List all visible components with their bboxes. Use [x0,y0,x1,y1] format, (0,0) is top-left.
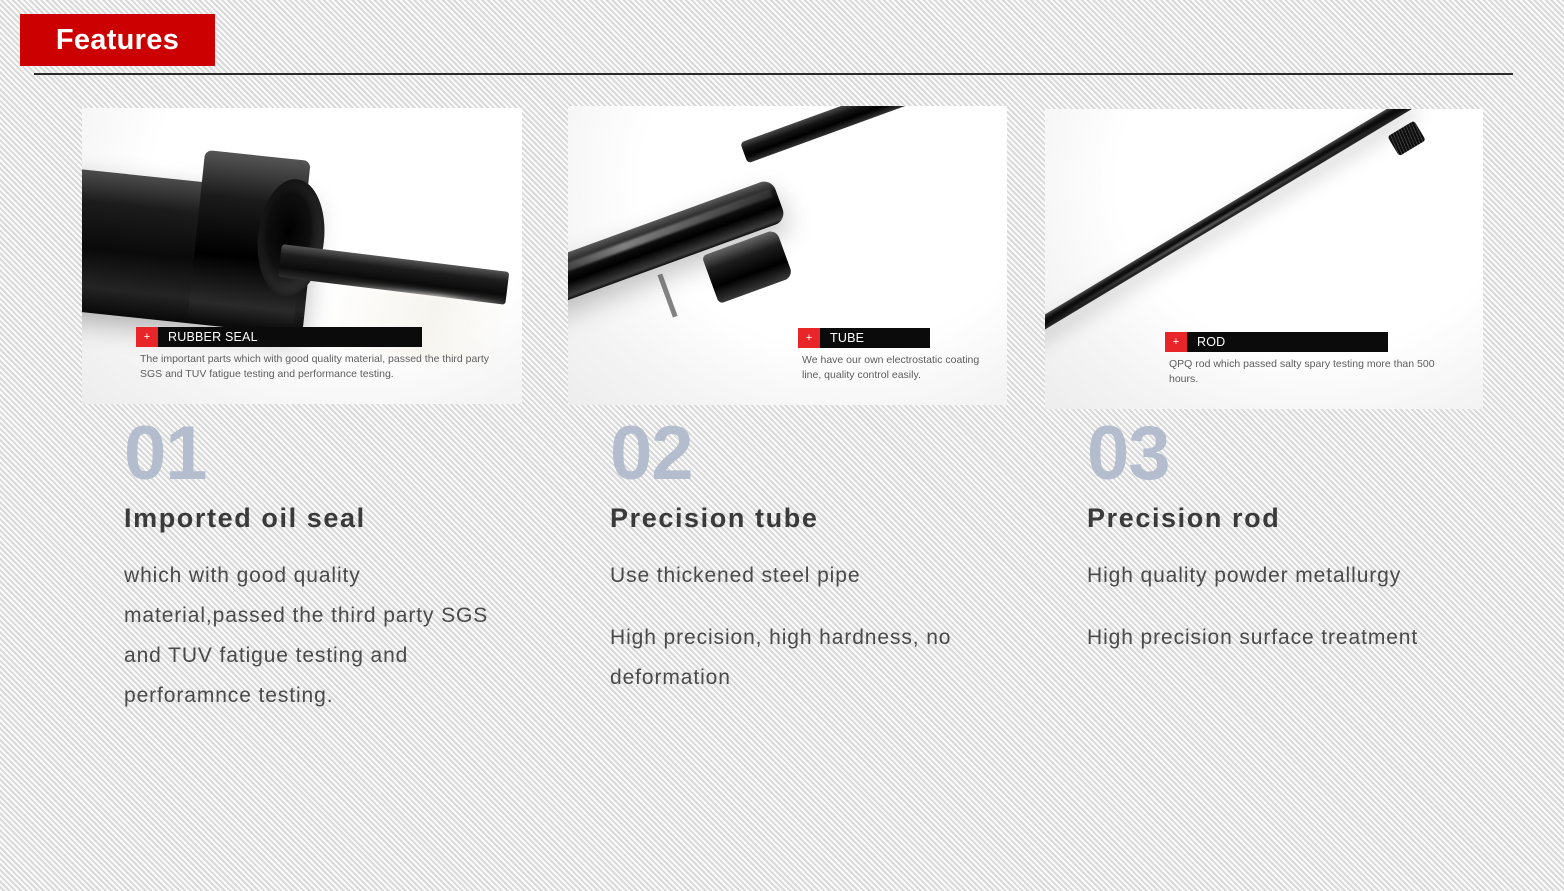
feature-columns: + RUBBER SEAL The important parts which … [0,0,1564,891]
feature-paragraph: which with good quality material,passed … [124,556,524,716]
feature-text-precision-tube: 02 Precision tube Use thickened steel pi… [610,418,1010,698]
caption-description: We have our own electrostatic coating li… [798,348,1007,383]
feature-paragraph: Use thickened steel pipe [610,556,1010,596]
caption-label-bar: + RUBBER SEAL [136,327,422,347]
feature-text-precision-rod: 03 Precision rod High quality powder met… [1087,418,1487,658]
caption-label-text: TUBE [820,328,930,348]
photo-caption-rod: + ROD QPQ rod which passed salty spary t… [1045,332,1483,409]
feature-text-rubber-seal: 01 Imported oil seal which with good qua… [124,418,524,716]
feature-subtitle: Precision rod [1087,504,1487,534]
rod-shaft-shape [1045,109,1412,343]
feature-paragraph: High precision surface treatment [1087,618,1487,658]
caption-label-bar: + TUBE [798,328,930,348]
photo-caption-tube: + TUBE We have our own electrostatic coa… [568,328,1007,405]
plus-icon: + [798,328,820,348]
caption-label-text: RUBBER SEAL [158,327,422,347]
photo-caption-rubber-seal: + RUBBER SEAL The important parts which … [82,327,522,404]
feature-subtitle: Precision tube [610,504,1010,534]
feature-number: 03 [1087,418,1487,490]
feature-number: 01 [124,418,524,490]
caption-label-bar: + ROD [1165,332,1388,352]
feature-subtitle: Imported oil seal [124,504,524,534]
caption-label-text: ROD [1187,332,1388,352]
tube-rod-shape [740,106,1007,164]
product-photo-tube: + TUBE We have our own electrostatic coa… [568,106,1007,405]
plus-icon: + [136,327,158,347]
photo-highlight [1045,109,1404,337]
caption-description: The important parts which with good qual… [136,347,511,382]
feature-number: 02 [610,418,1010,490]
caption-description: QPQ rod which passed salty spary testing… [1165,352,1477,387]
feature-paragraph: High precision, high hardness, no deform… [610,618,1010,698]
product-photo-rubber-seal: + RUBBER SEAL The important parts which … [82,108,522,404]
feature-paragraph: High quality powder metallurgy [1087,556,1487,596]
plus-icon: + [1165,332,1187,352]
tube-seam-shape [657,274,677,318]
product-photo-rod: + ROD QPQ rod which passed salty spary t… [1045,109,1483,409]
rod-threaded-tip-shape [1387,121,1425,156]
